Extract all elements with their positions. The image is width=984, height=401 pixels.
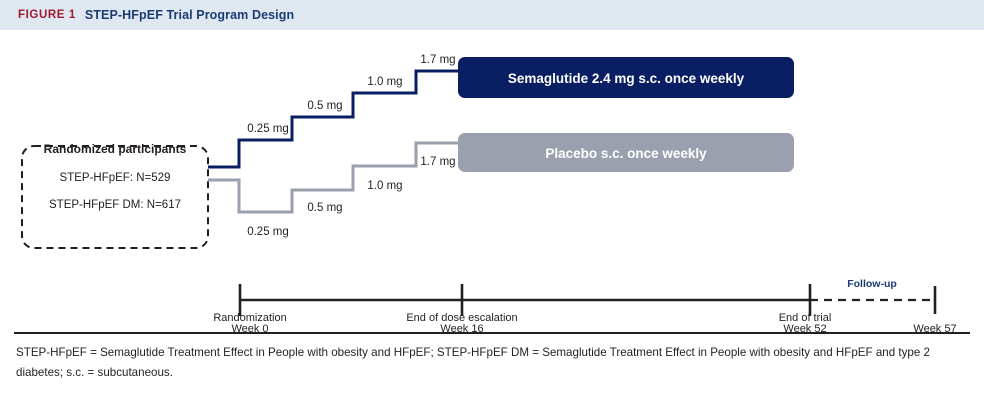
semaglutide-treatment-bar: Semaglutide 2.4 mg s.c. once weekly <box>458 57 794 98</box>
timeline-tick-label-0-primary: Week 0 <box>231 323 268 332</box>
placebo-treatment-bar: Placebo s.c. once weekly <box>458 133 794 172</box>
placebo-dose-label-2: 1.0 mg <box>367 180 402 192</box>
placebo-bar-label: Placebo s.c. once weekly <box>545 146 707 161</box>
figure-footnote: STEP-HFpEF = Semaglutide Treatment Effec… <box>16 343 968 383</box>
randomized-box-line-1: STEP-HFpEF: N=529 <box>60 172 171 184</box>
semaglutide-dose-label-3: 1.7 mg <box>420 54 455 66</box>
placebo-escalation-path: 0.25 mg 0.5 mg 1.0 mg 1.7 mg <box>208 143 461 238</box>
followup-label: Follow-up <box>847 278 897 290</box>
randomized-box-title: Randomized participants <box>44 142 187 156</box>
randomized-participants-box: Randomized participants STEP-HFpEF: N=52… <box>22 142 208 248</box>
timeline-tick-label-3-primary: Week 57 <box>913 323 956 332</box>
figure-number-label: FIGURE 1 <box>18 9 76 21</box>
timeline-tick-label-1-primary: Week 16 <box>440 323 483 332</box>
placebo-dose-label-3: 1.7 mg <box>420 156 455 168</box>
semaglutide-escalation-path: 0.25 mg 0.5 mg 1.0 mg 1.7 mg <box>208 54 461 167</box>
timeline-tick-label-2-primary: Week 52 <box>783 323 826 332</box>
timeline-tick-label-1-secondary: End of dose escalation <box>382 312 542 324</box>
semaglutide-dose-label-1: 0.5 mg <box>307 100 342 112</box>
semaglutide-staircase-line <box>208 71 461 167</box>
randomized-box-outline <box>22 146 208 248</box>
footer-divider <box>14 332 970 334</box>
figure-header: FIGURE 1 STEP-HFpEF Trial Program Design <box>0 0 984 30</box>
randomized-box-line-2: STEP-HFpEF DM: N=617 <box>49 199 181 211</box>
semaglutide-bar-label: Semaglutide 2.4 mg s.c. once weekly <box>508 71 745 86</box>
semaglutide-dose-label-2: 1.0 mg <box>367 76 402 88</box>
timeline-tick-label-2-secondary: End of trial <box>748 312 862 324</box>
placebo-dose-label-1: 0.5 mg <box>307 202 342 214</box>
figure-title: STEP-HFpEF Trial Program Design <box>85 8 294 22</box>
semaglutide-dose-label-0: 0.25 mg <box>247 123 289 135</box>
footnote-line-1: STEP-HFpEF = Semaglutide Treatment Effec… <box>16 346 873 359</box>
placebo-dose-label-0: 0.25 mg <box>247 226 289 238</box>
timeline-tick-label-0-secondary: Randomization <box>193 312 307 324</box>
trial-design-diagram: Randomized participants STEP-HFpEF: N=52… <box>0 30 984 332</box>
